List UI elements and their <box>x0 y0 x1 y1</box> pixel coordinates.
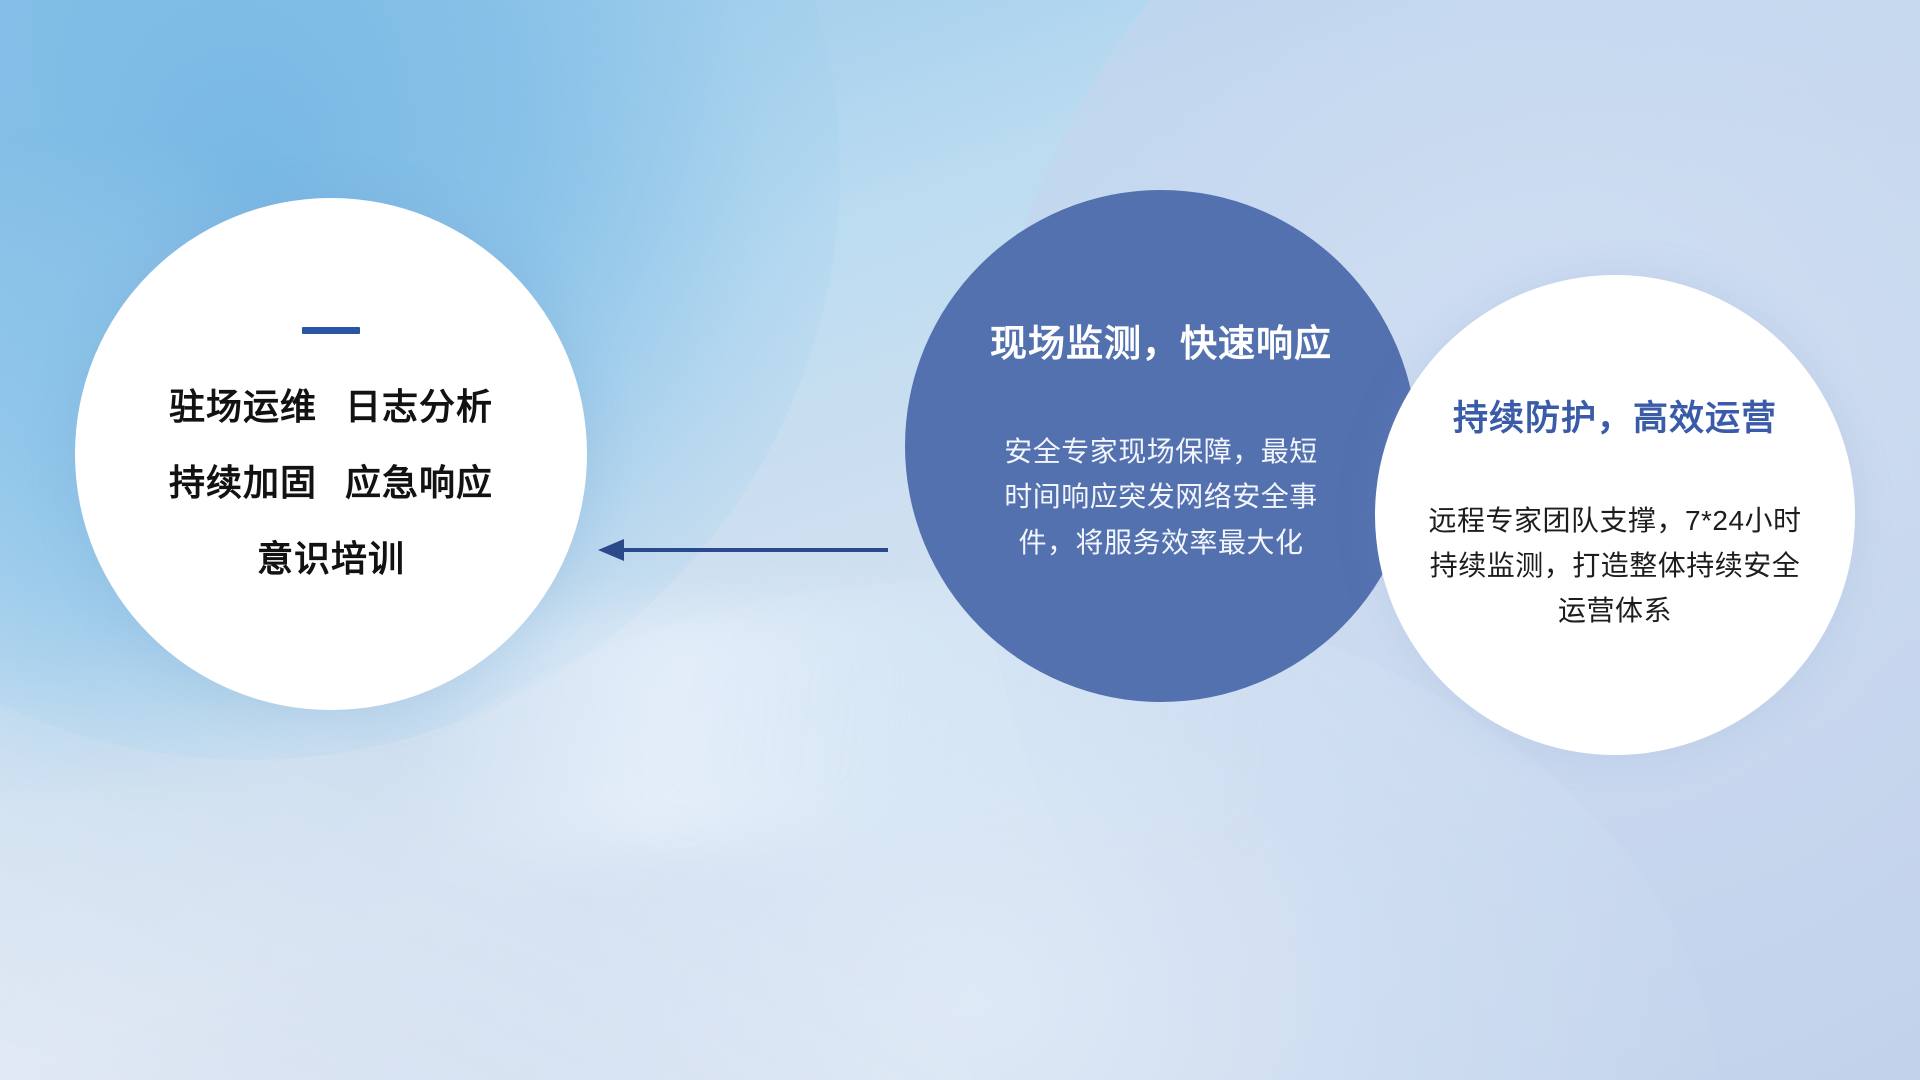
slide-canvas: 驻场运维 日志分析 持续加固 应急响应 意识培训 现场监测，快速响应 安全专家现… <box>0 0 1920 1080</box>
capability-tag[interactable]: 持续加固 <box>169 454 317 506</box>
feature-circle-onsite-monitoring[interactable]: 现场监测，快速响应 安全专家现场保障，最短时间响应突发网络安全事件，将服务效率最… <box>905 190 1417 702</box>
capability-row: 意识培训 <box>257 530 405 582</box>
capability-tag[interactable]: 意识培训 <box>257 530 405 582</box>
capability-circle-left[interactable]: 驻场运维 日志分析 持续加固 应急响应 意识培训 <box>75 198 587 710</box>
circle-description: 远程专家团队支撑，7*24小时持续监测，打造整体持续安全运营体系 <box>1422 499 1808 633</box>
feature-circle-continuous-protection[interactable]: 持续防护，高效运营 远程专家团队支撑，7*24小时持续监测，打造整体持续安全运营… <box>1375 275 1855 755</box>
capability-tag[interactable]: 驻场运维 <box>169 378 317 430</box>
capability-tag[interactable]: 日志分析 <box>345 378 493 430</box>
circle-description: 安全专家现场保障，最短时间响应突发网络安全事件，将服务效率最大化 <box>1000 429 1322 565</box>
capability-row: 驻场运维 日志分析 <box>169 378 493 430</box>
circle-title: 持续防护，高效运营 <box>1453 390 1777 441</box>
blue-dash-divider <box>302 327 360 334</box>
arrow-left-icon <box>596 528 888 572</box>
capability-tag[interactable]: 应急响应 <box>345 454 493 506</box>
circle-title: 现场监测，快速响应 <box>990 313 1332 367</box>
capability-list: 驻场运维 日志分析 持续加固 应急响应 意识培训 <box>169 378 493 582</box>
capability-row: 持续加固 应急响应 <box>169 454 493 506</box>
